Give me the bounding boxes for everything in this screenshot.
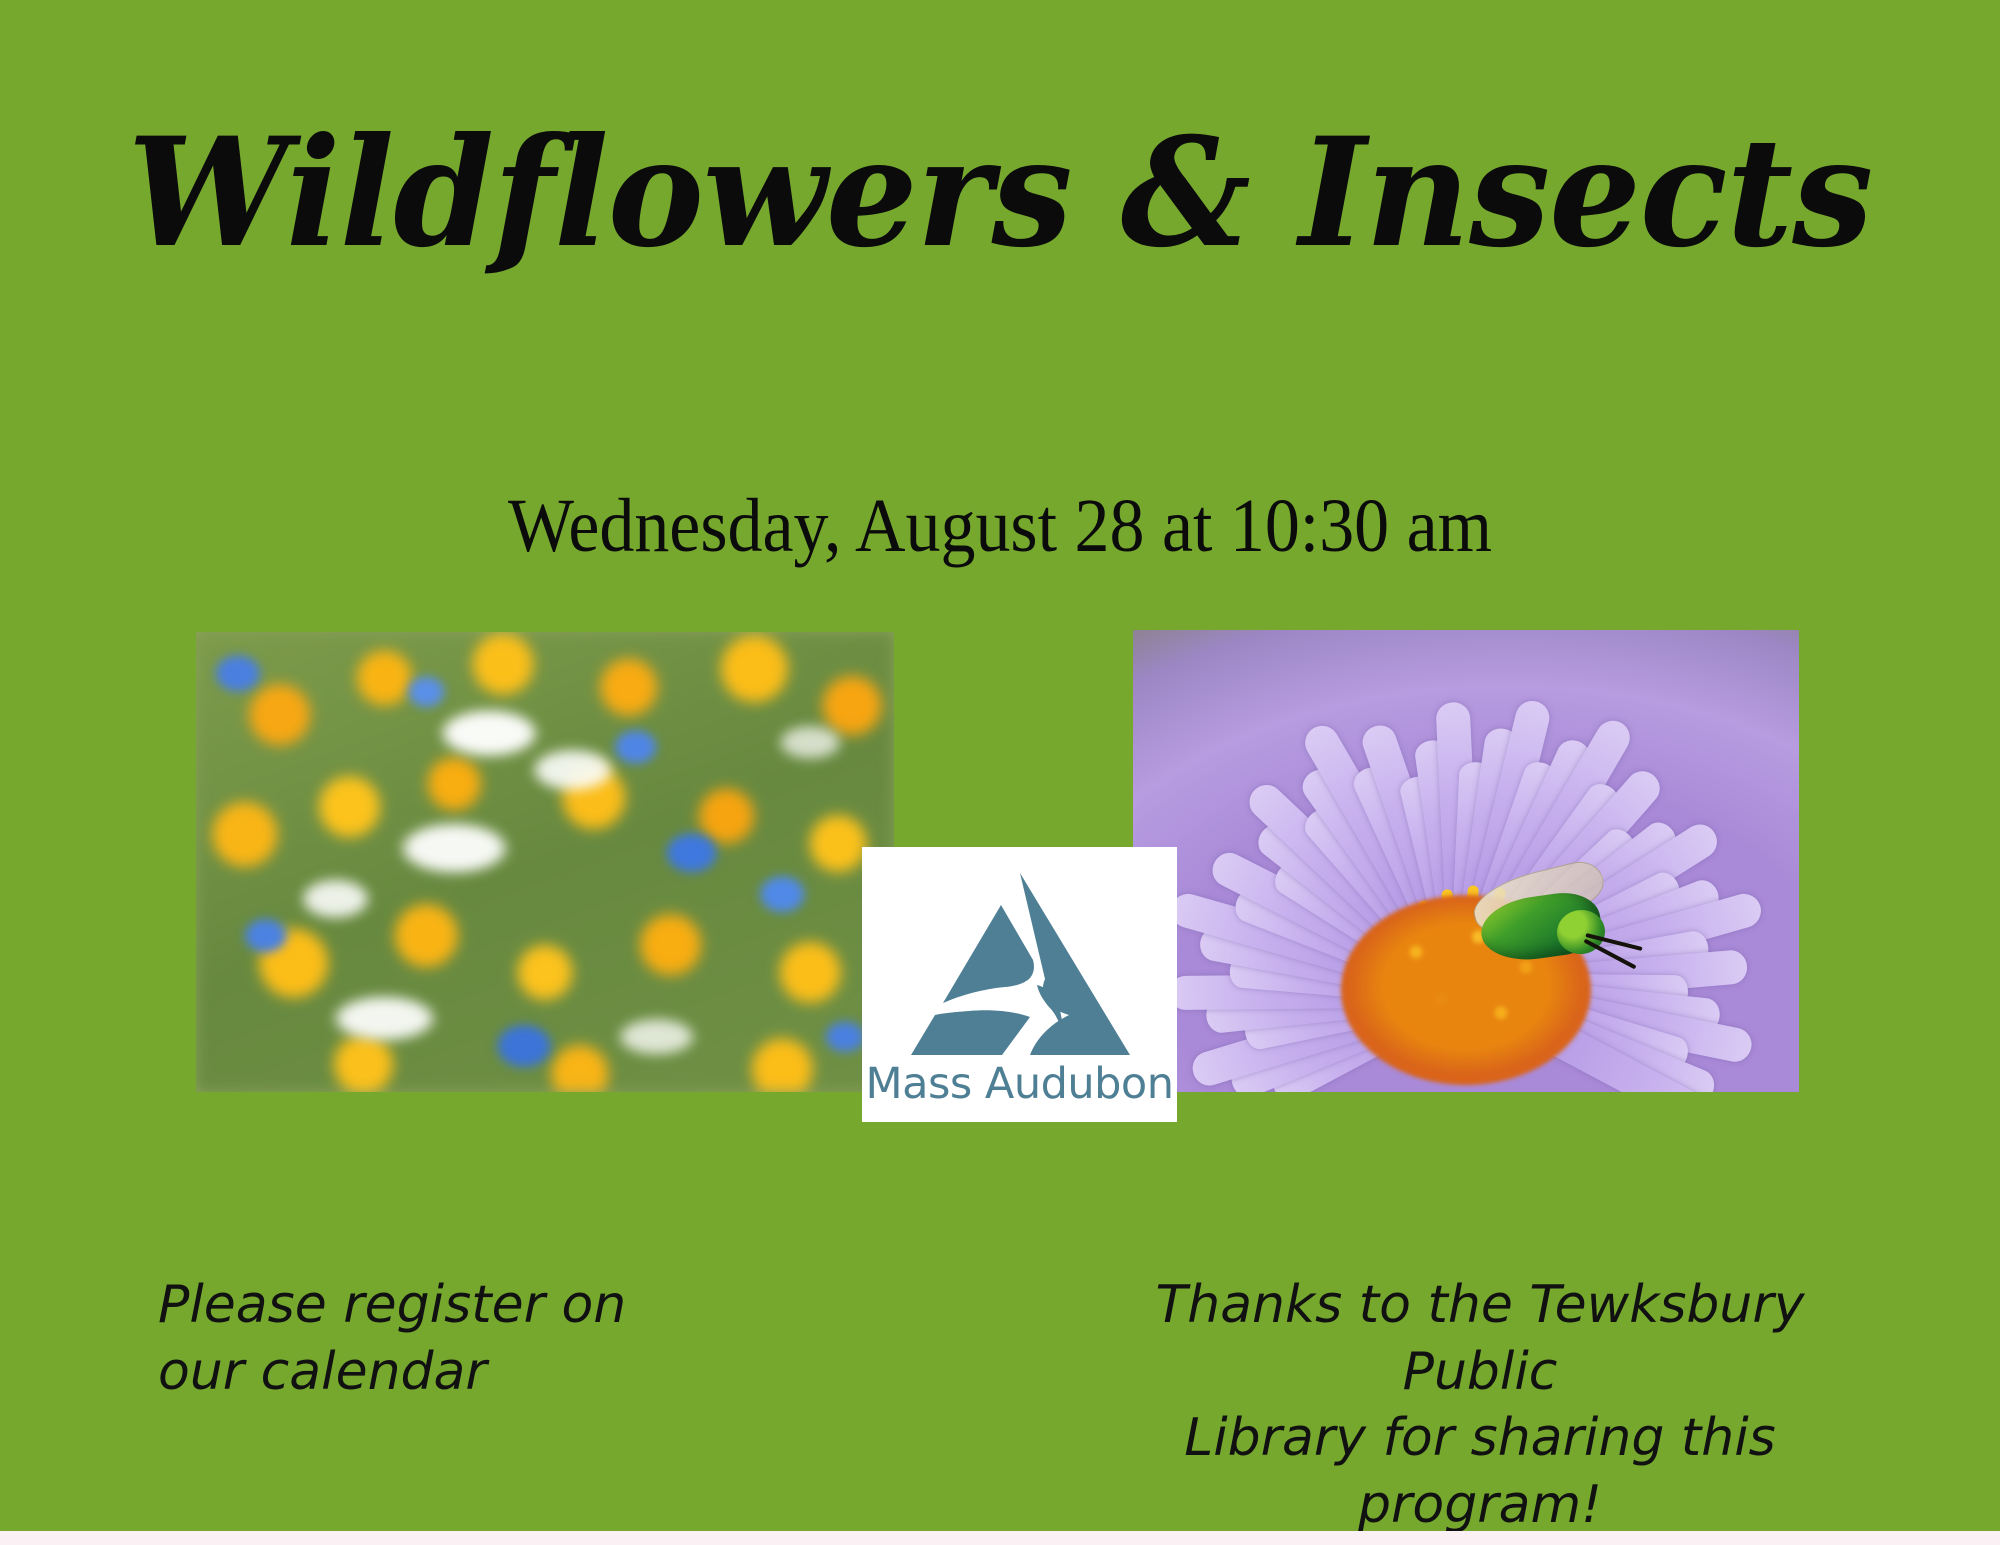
meadow-blue-cornflowers-layer [196,632,894,1092]
mass-audubon-wordmark: Mass Audubon [862,1059,1177,1109]
event-flyer: Wildflowers & Insects Wednesday, August … [0,0,2000,1545]
green-sweat-bee [1453,870,1643,980]
event-datetime: Wednesday, August 28 at 10:30 am [80,487,1920,567]
mass-audubon-logo: Mass Audubon [862,847,1177,1122]
thanks-note: Thanks to the Tewksbury Public Library f… [1090,1272,1870,1538]
aster-with-green-bee-photo [1133,630,1799,1092]
bottom-strip [0,1531,2000,1545]
audubon-triangle-osprey-icon [909,869,1131,1059]
register-note: Please register on our calendar [158,1272,626,1405]
page-title: Wildflowers & Insects [40,118,1960,268]
wildflower-meadow-photo [196,632,894,1092]
